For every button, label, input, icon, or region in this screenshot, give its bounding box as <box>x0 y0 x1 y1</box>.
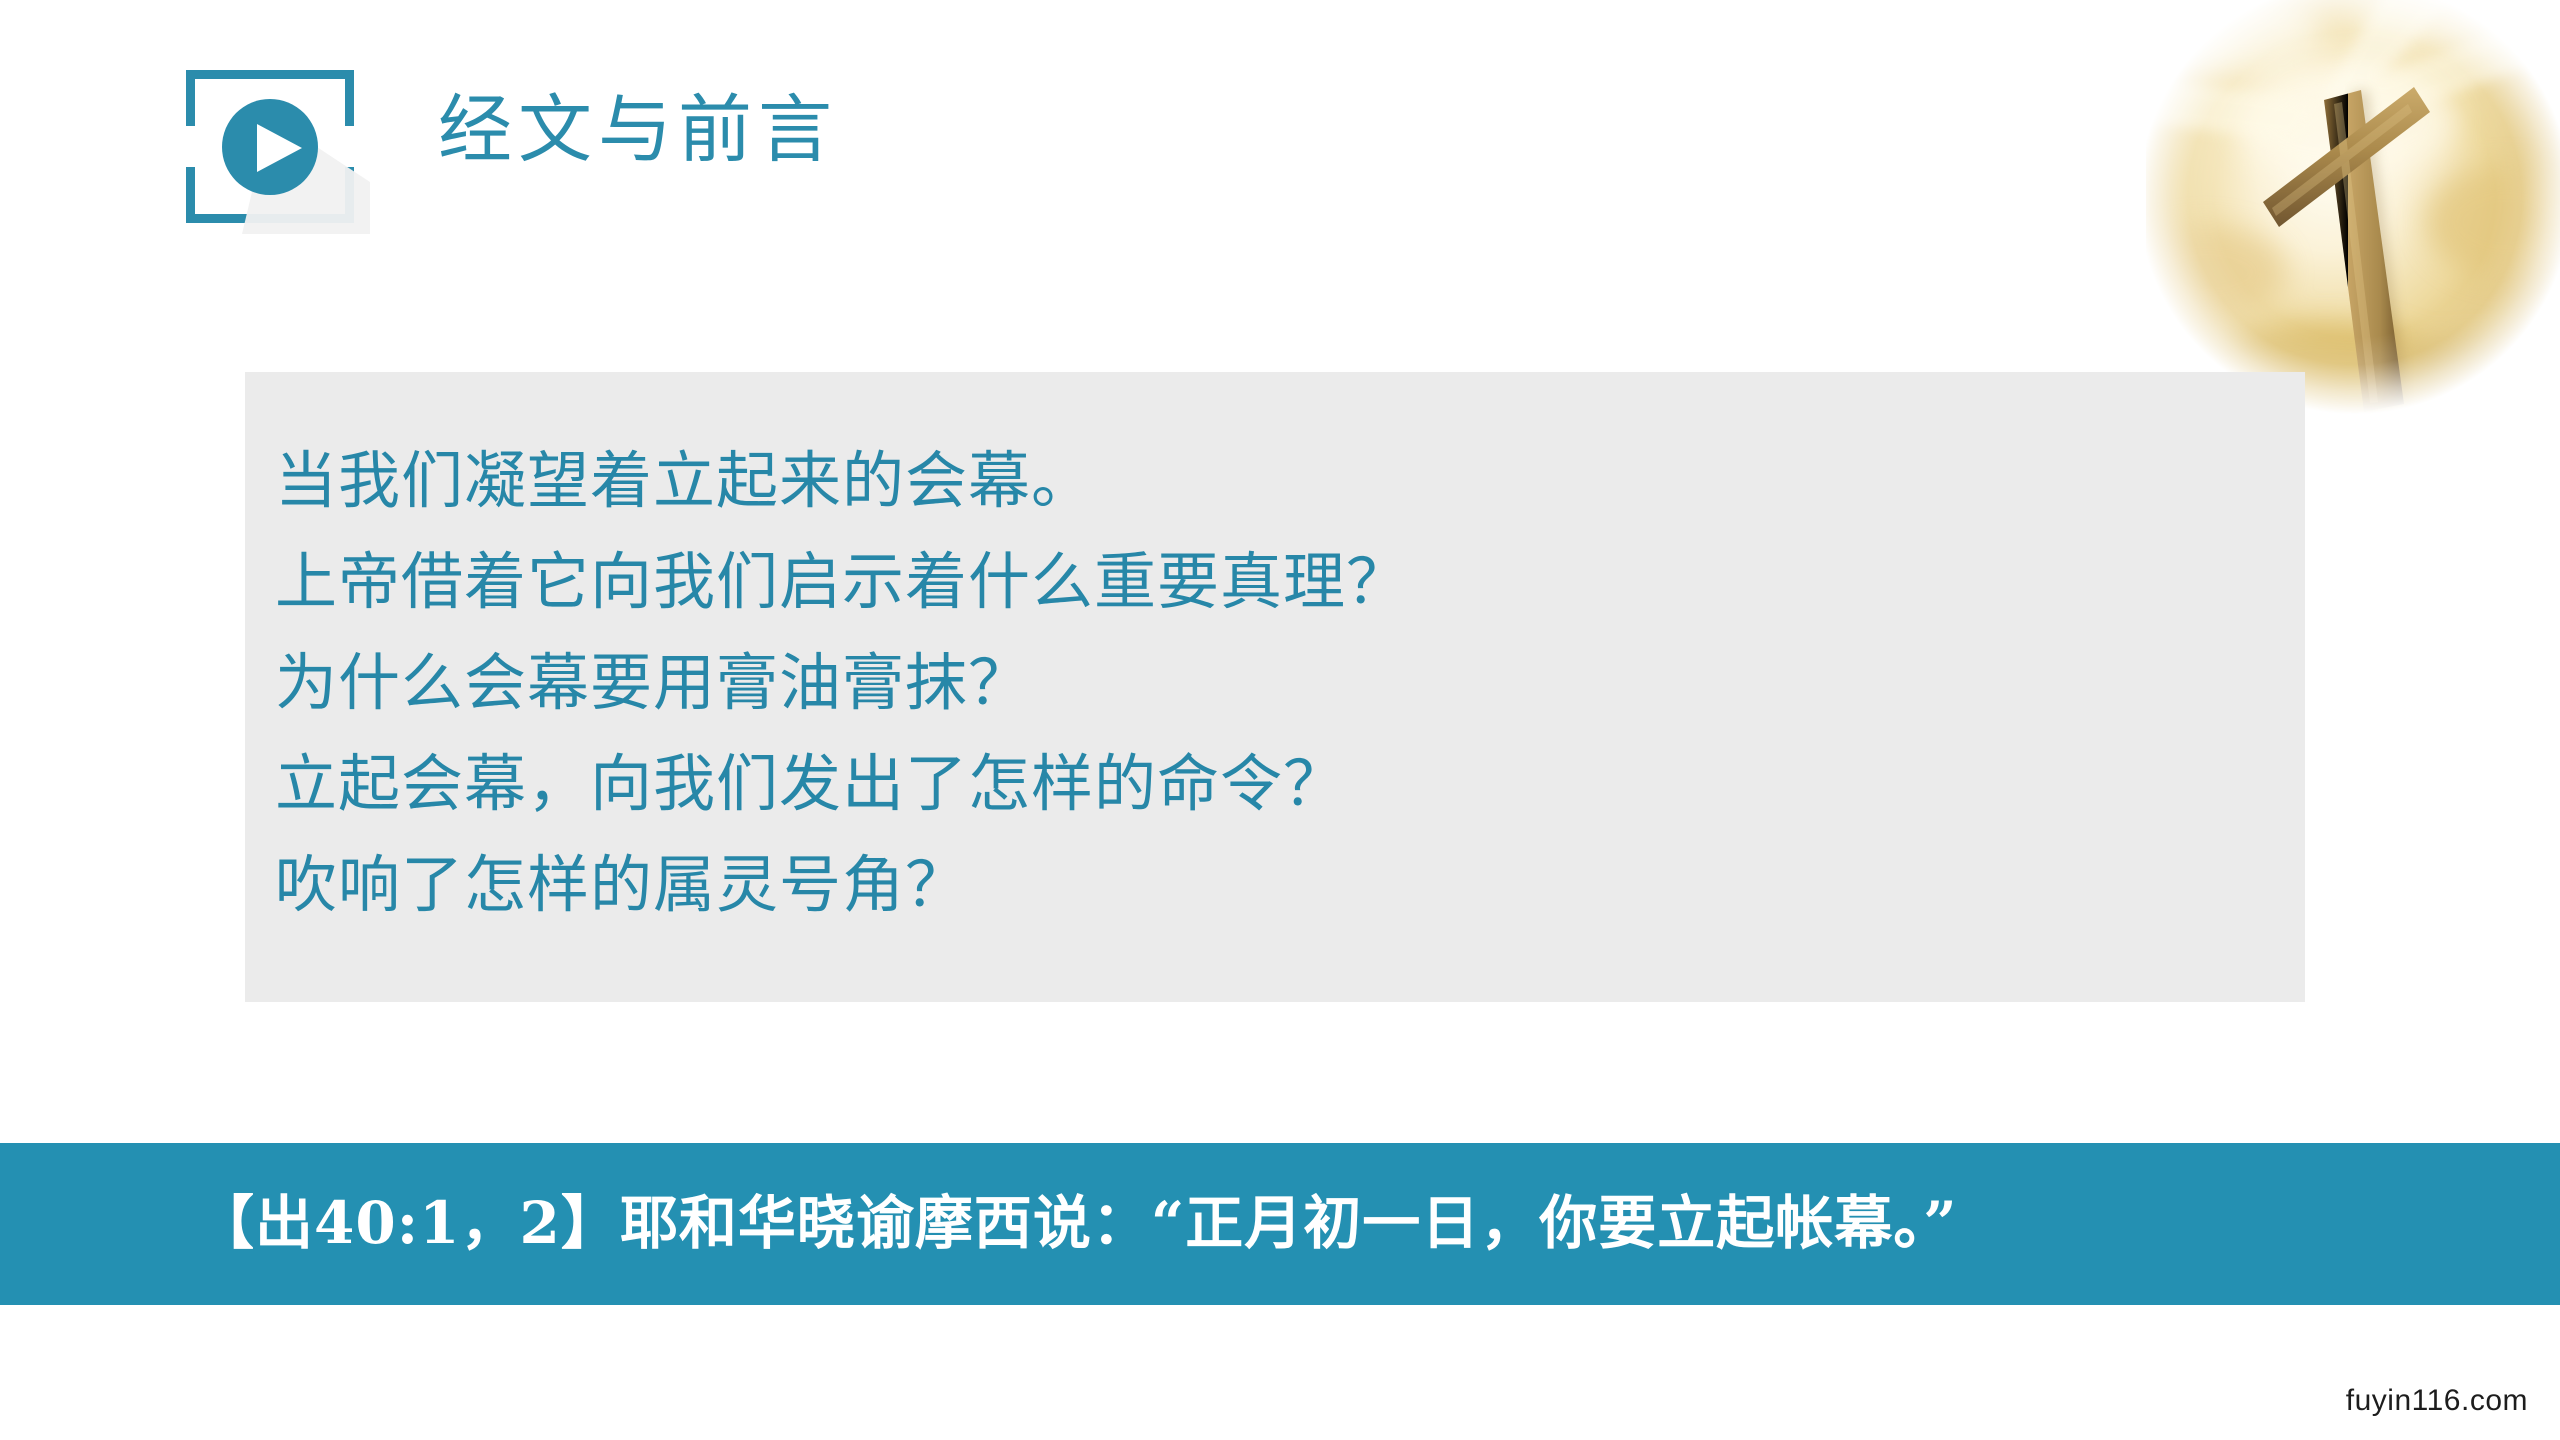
page-title: 经文与前言 <box>438 90 838 171</box>
play-circle-icon <box>222 99 318 195</box>
play-logo <box>180 64 372 244</box>
slide-canvas: 经文与前言 当我们凝望着立起来的会幕。 上帝借着它向我们启示着什么重要真理？ 为… <box>0 0 2560 1440</box>
question-line: 吹响了怎样的属灵号角？ <box>275 834 2235 935</box>
question-line: 当我们凝望着立起来的会幕。 <box>275 430 2235 531</box>
question-line: 为什么会幕要用膏油膏抹？ <box>275 632 2235 733</box>
question-line: 立起会幕，向我们发出了怎样的命令？ <box>275 733 2235 834</box>
question-line: 上帝借着它向我们启示着什么重要真理？ <box>275 531 2235 632</box>
footer-website: fuyin116.com <box>2346 1384 2528 1418</box>
question-list: 当我们凝望着立起来的会幕。 上帝借着它向我们启示着什么重要真理？ 为什么会幕要用… <box>275 430 2235 935</box>
verse-reference-text: 【出40:1，2】耶和华晓谕摩西说：“正月初一日，你要立起帐幕。” <box>196 1185 1958 1261</box>
